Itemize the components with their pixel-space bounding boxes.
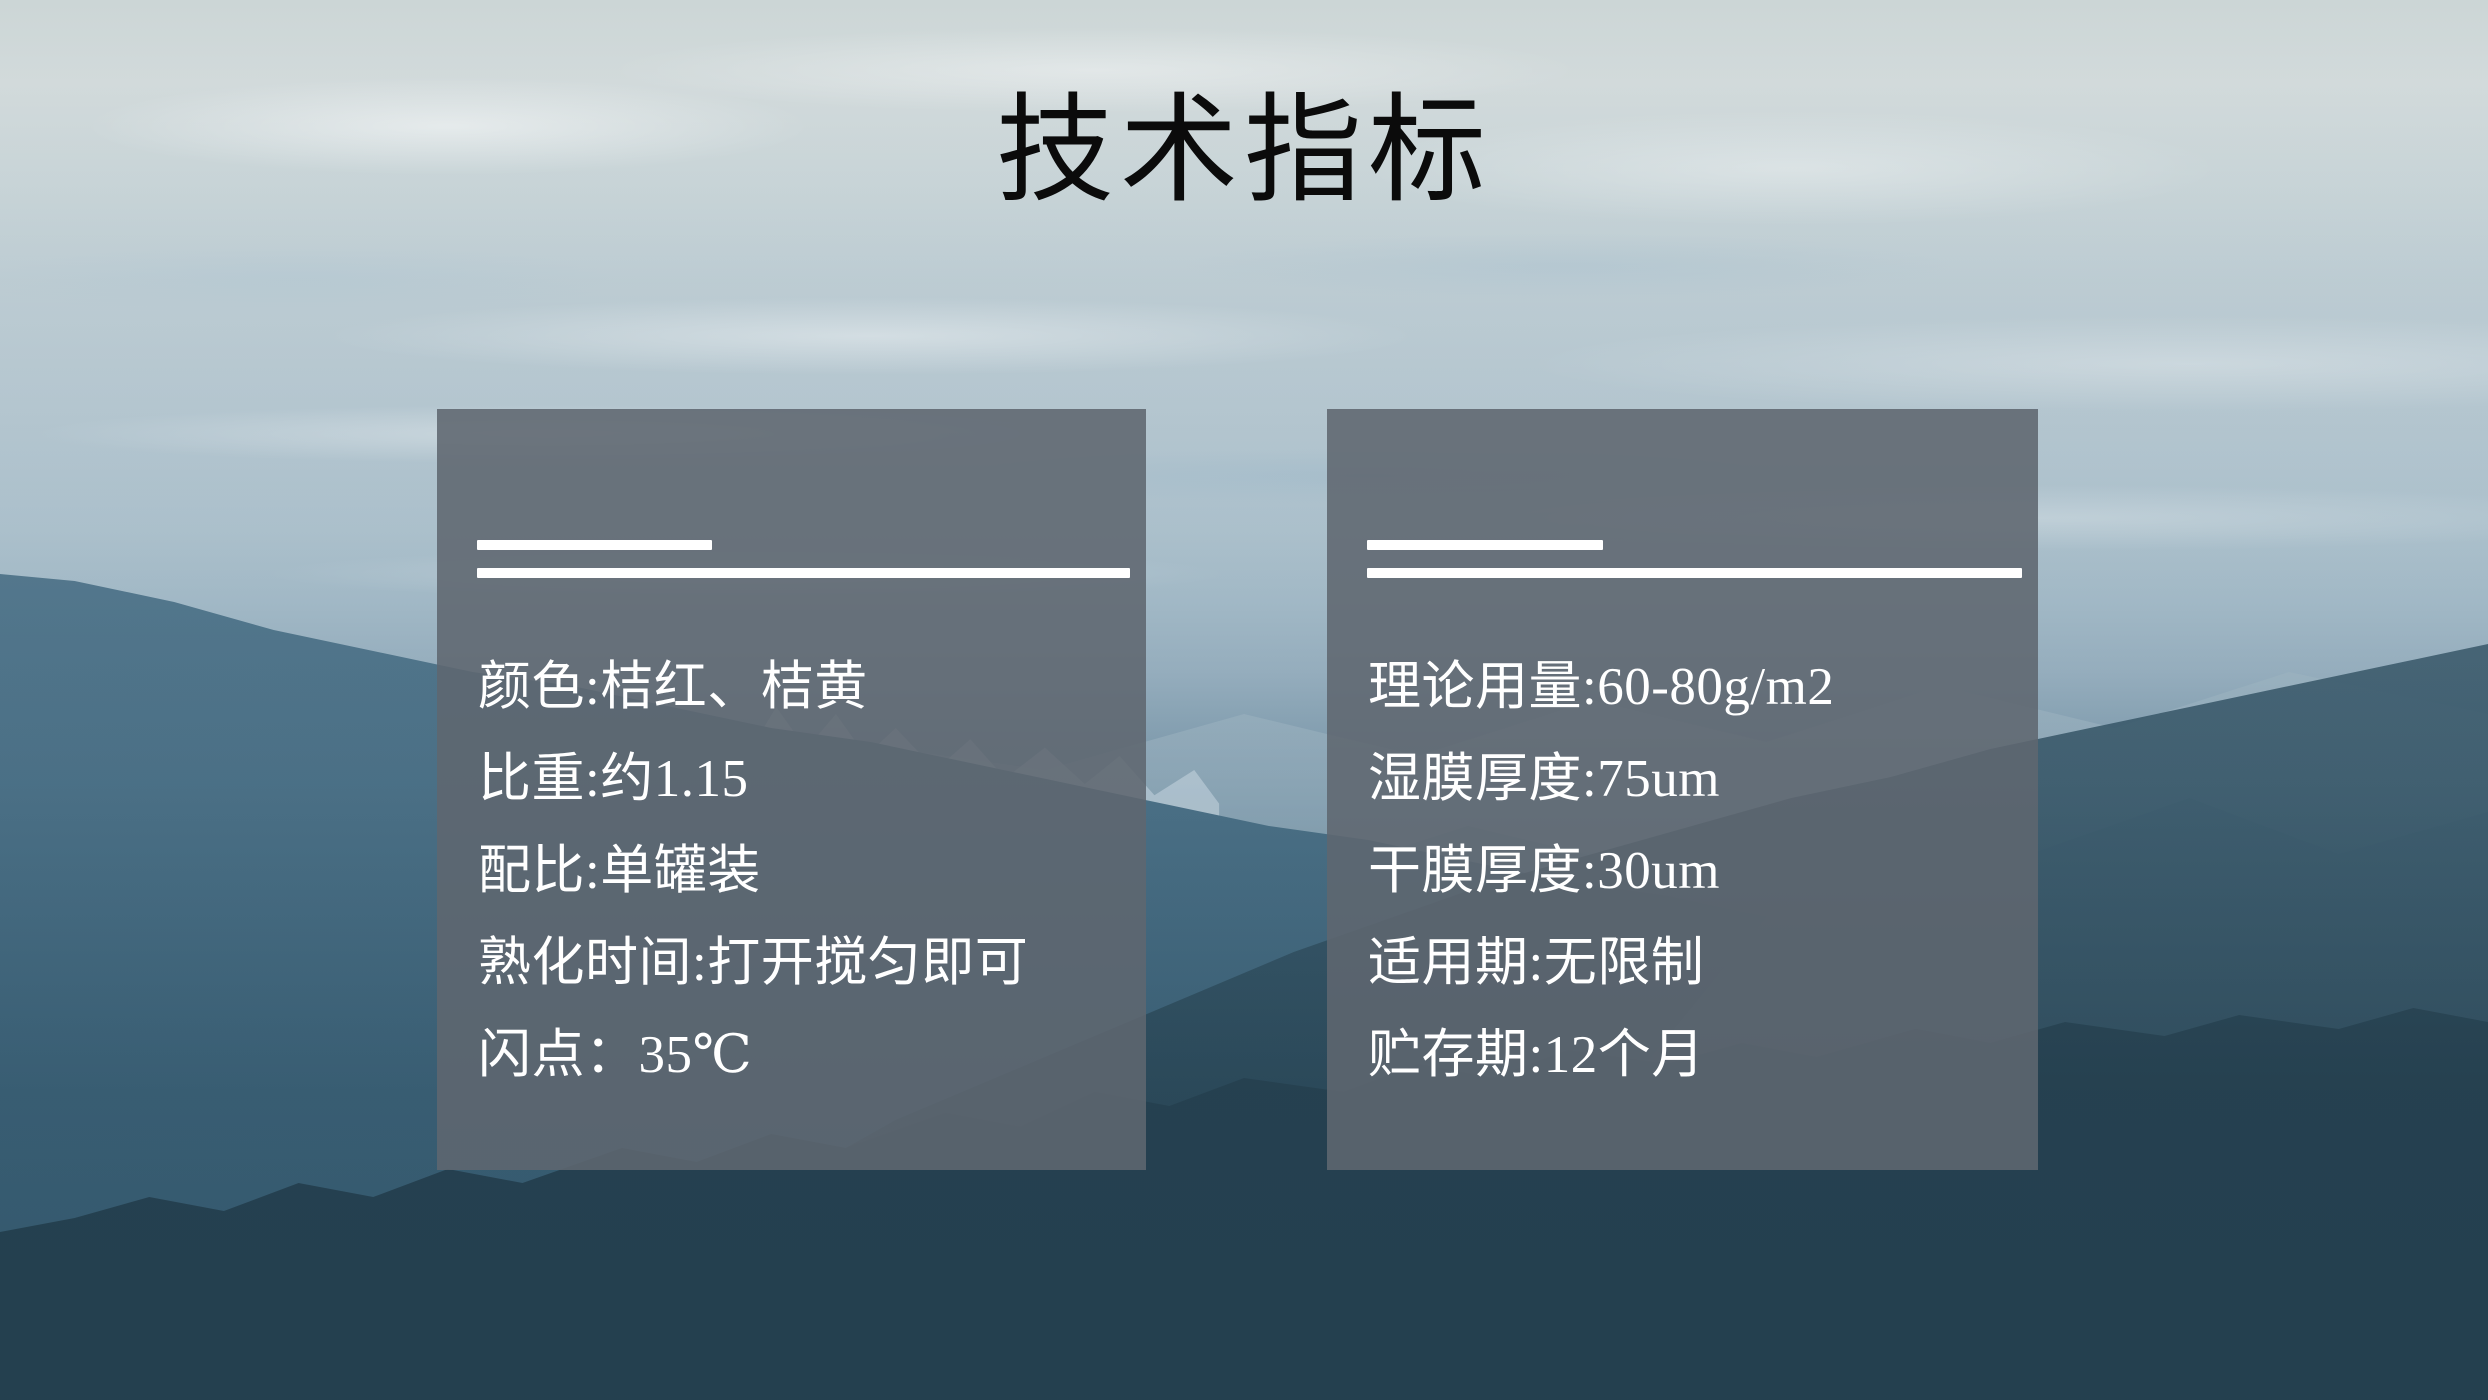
panel-left-lines: 颜色:桔红、桔黄 比重:约1.15 配比:单罐装 熟化时间:打开搅匀即可 闪点：… bbox=[478, 641, 1132, 1101]
spec-line: 理论用量:60-80g/m2 bbox=[1368, 641, 2024, 733]
slide-title: 技术指标 bbox=[0, 86, 2488, 218]
spec-panel-right: 理论用量:60-80g/m2 湿膜厚度:75um 干膜厚度:30um 适用期:无… bbox=[1327, 409, 2038, 1170]
spec-line: 贮存期:12个月 bbox=[1368, 1009, 2024, 1101]
slide-canvas: 技术指标 颜色:桔红、桔黄 比重:约1.15 配比:单罐装 熟化时间:打开搅匀即… bbox=[0, 0, 2488, 1400]
spec-line: 湿膜厚度:75um bbox=[1368, 733, 2024, 825]
spec-line: 干膜厚度:30um bbox=[1368, 825, 2024, 917]
spec-line: 配比:单罐装 bbox=[478, 825, 1132, 917]
panel-left-rule-short bbox=[477, 540, 712, 550]
panel-left-rule-long bbox=[477, 568, 1130, 578]
panel-left-rules bbox=[477, 540, 1130, 578]
spec-line: 闪点：35℃ bbox=[478, 1009, 1132, 1101]
panel-right-rule-short bbox=[1367, 540, 1603, 550]
panel-right-rules bbox=[1367, 540, 2022, 578]
spec-line: 适用期:无限制 bbox=[1368, 917, 2024, 1009]
panel-right-lines: 理论用量:60-80g/m2 湿膜厚度:75um 干膜厚度:30um 适用期:无… bbox=[1368, 641, 2024, 1101]
panel-right-rule-long bbox=[1367, 568, 2022, 578]
spec-panel-left: 颜色:桔红、桔黄 比重:约1.15 配比:单罐装 熟化时间:打开搅匀即可 闪点：… bbox=[437, 409, 1146, 1170]
spec-line: 熟化时间:打开搅匀即可 bbox=[478, 917, 1132, 1009]
spec-line: 颜色:桔红、桔黄 bbox=[478, 641, 1132, 733]
spec-line: 比重:约1.15 bbox=[478, 733, 1132, 825]
